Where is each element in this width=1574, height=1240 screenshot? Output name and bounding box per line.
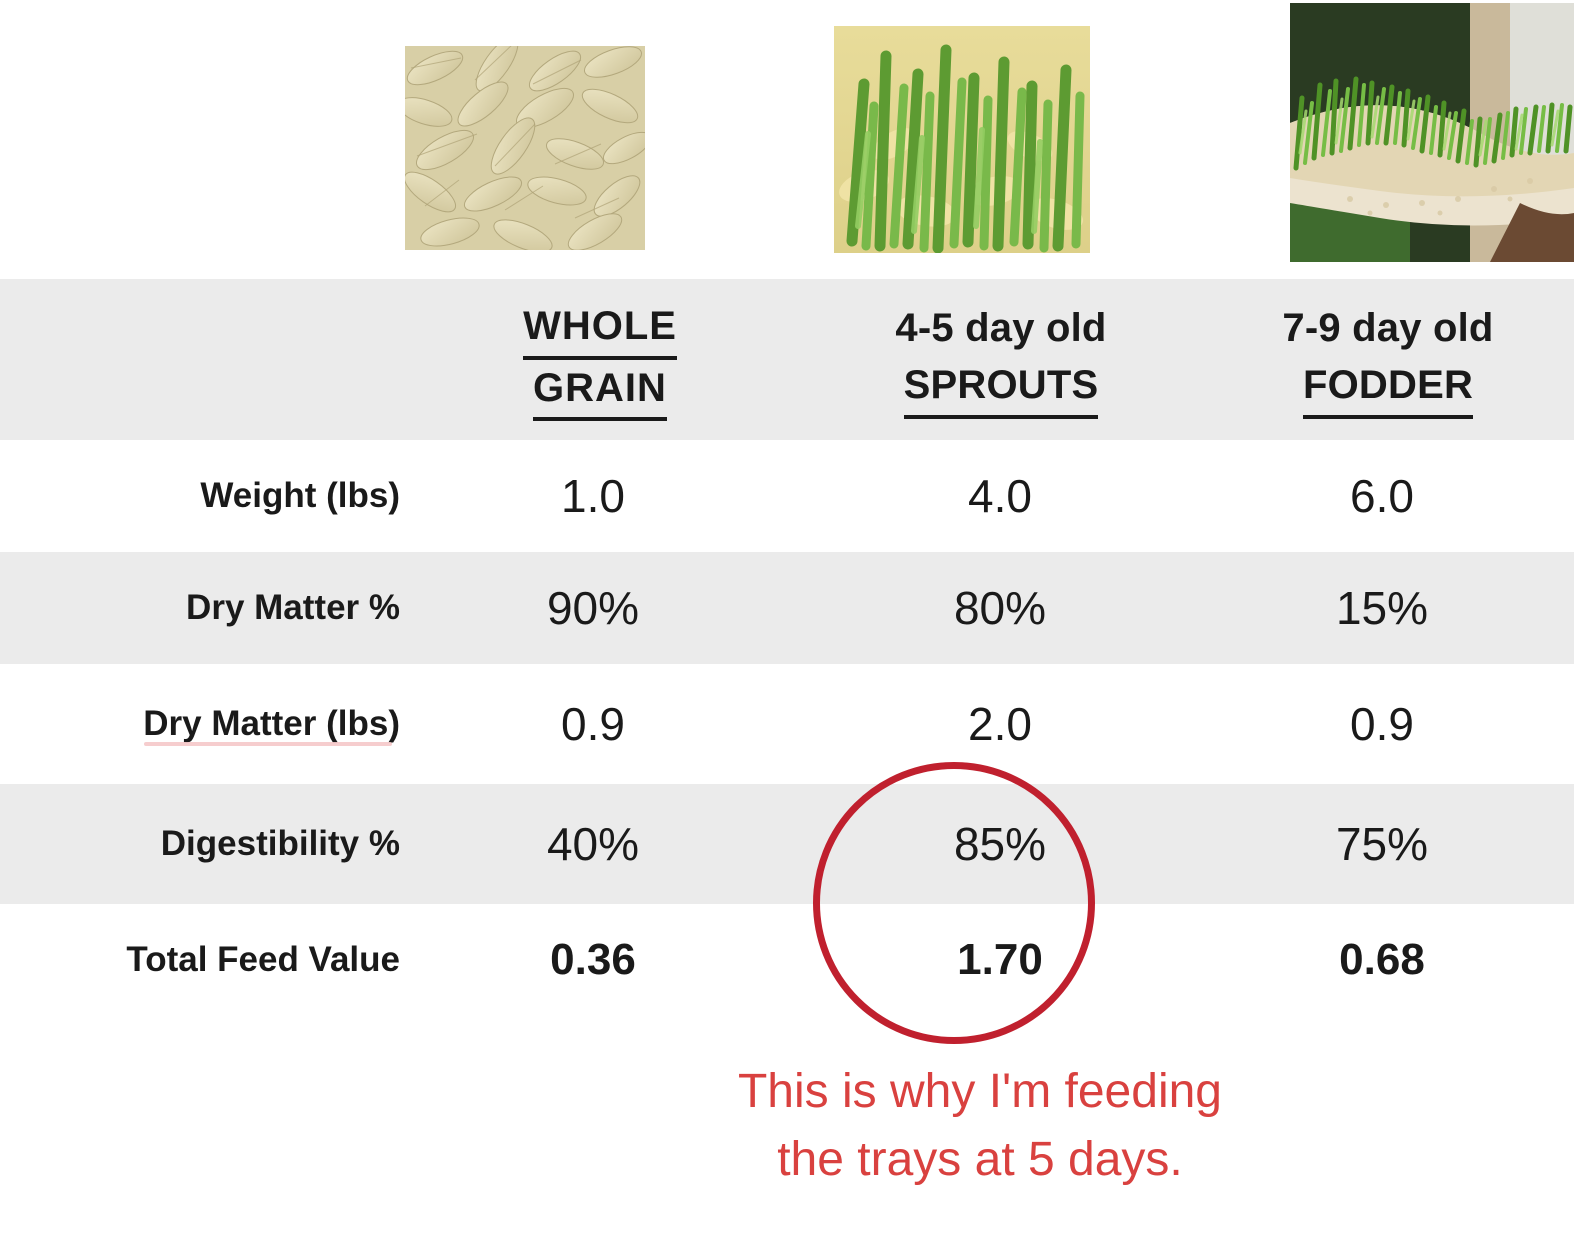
cell-total-feed-value-fodder: 0.68 (1202, 904, 1574, 1016)
header-cell-fodder: 7-9 day old FODDER (1202, 279, 1574, 440)
header-cell-blank (0, 279, 400, 440)
row-label-total-feed-value: Total Feed Value (0, 904, 400, 1016)
row-label-dry-matter-percent-text: Dry Matter % (186, 588, 400, 627)
header-line1-fodder: 7-9 day old (1282, 306, 1493, 350)
row-label-dry-matter-lbs: Dry Matter (lbs) (0, 664, 400, 784)
row-label-total-feed-value-text: Total Feed Value (126, 940, 400, 979)
row-label-weight: Weight (lbs) (0, 440, 400, 552)
cell-total-feed-value-sprouts: 1.70 (800, 904, 1202, 1016)
row-label-digestibility: Digestibility % (0, 784, 400, 904)
sprouts-photo (834, 26, 1090, 253)
row-label-dry-matter-lbs-text: Dry Matter (lbs) (143, 704, 400, 743)
photo-strip (0, 0, 1574, 279)
cell-digestibility-fodder: 75% (1202, 784, 1574, 904)
row-label-weight-text: Weight (lbs) (200, 476, 400, 515)
cell-total-feed-value-whole-grain: 0.36 (400, 904, 800, 1016)
table-row: Weight (lbs) 1.0 4.0 6.0 (0, 440, 1574, 552)
cell-dry-matter-lbs-fodder: 0.9 (1202, 664, 1574, 784)
row-label-dry-matter-percent: Dry Matter % (0, 552, 400, 664)
fodder-photo (1290, 3, 1574, 262)
whole-grain-photo (405, 46, 645, 250)
table-row: Total Feed Value 0.36 1.70 0.68 (0, 904, 1574, 1016)
header-cell-whole-grain: WHOLE GRAIN (400, 279, 800, 440)
header-cell-sprouts: 4-5 day old SPROUTS (800, 279, 1202, 440)
table-header-row: WHOLE GRAIN 4-5 day old SPROUTS 7-9 day … (0, 279, 1574, 440)
cell-weight-sprouts: 4.0 (800, 440, 1202, 552)
table-row: Digestibility % 40% 85% 75% (0, 784, 1574, 904)
row-label-digestibility-text: Digestibility % (161, 824, 400, 863)
annotation-caption-line1: This is why I'm feeding (620, 1058, 1340, 1126)
annotation-caption-line2: the trays at 5 days. (620, 1126, 1340, 1194)
cell-dry-matter-percent-sprouts: 80% (800, 552, 1202, 664)
header-line2-fodder: FODDER (1303, 357, 1473, 419)
cell-dry-matter-lbs-whole-grain: 0.9 (400, 664, 800, 784)
header-line1-whole-grain: WHOLE (523, 298, 677, 360)
table-row: Dry Matter % 90% 80% 15% (0, 552, 1574, 664)
header-line2-sprouts: SPROUTS (904, 357, 1099, 419)
header-line2-whole-grain: GRAIN (533, 360, 667, 422)
header-line1-sprouts: 4-5 day old (895, 306, 1106, 350)
cell-weight-whole-grain: 1.0 (400, 440, 800, 552)
table-row: Dry Matter (lbs) 0.9 2.0 0.9 (0, 664, 1574, 784)
cell-dry-matter-percent-fodder: 15% (1202, 552, 1574, 664)
cell-digestibility-sprouts: 85% (800, 784, 1202, 904)
cell-dry-matter-percent-whole-grain: 90% (400, 552, 800, 664)
feed-comparison-table: WHOLE GRAIN 4-5 day old SPROUTS 7-9 day … (0, 279, 1574, 1016)
annotation-caption: This is why I'm feeding the trays at 5 d… (620, 1058, 1340, 1194)
cell-digestibility-whole-grain: 40% (400, 784, 800, 904)
cell-dry-matter-lbs-sprouts: 2.0 (800, 664, 1202, 784)
cell-weight-fodder: 6.0 (1202, 440, 1574, 552)
